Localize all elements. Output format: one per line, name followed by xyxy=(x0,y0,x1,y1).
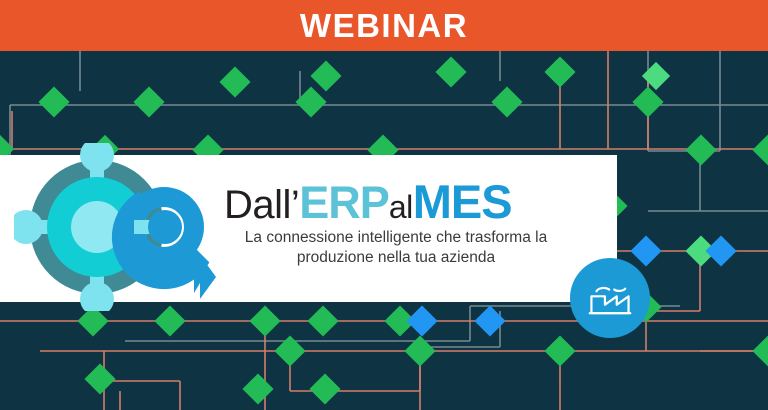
title-part-dall: Dall’ xyxy=(224,183,299,227)
network-node-logo xyxy=(14,143,224,311)
subtitle-line-2: produzione nella tua azienda xyxy=(222,248,570,268)
webinar-header-bar: WEBINAR xyxy=(0,0,768,51)
title-part-mes: MES xyxy=(413,175,512,228)
factory-badge xyxy=(570,258,650,338)
webinar-label: WEBINAR xyxy=(300,9,468,42)
webinar-banner: WEBINAR xyxy=(0,0,768,410)
title-part-erp: ERP xyxy=(299,177,389,228)
factory-icon xyxy=(583,271,637,325)
subtitle-line-1: La connessione intelligente che trasform… xyxy=(222,228,570,248)
title-part-al: al xyxy=(389,189,413,225)
page-subtitle: La connessione intelligente che trasform… xyxy=(222,228,570,268)
page-title: Dall’ERPalMES xyxy=(224,178,570,225)
title-block: Dall’ERPalMES La connessione intelligent… xyxy=(222,178,570,268)
